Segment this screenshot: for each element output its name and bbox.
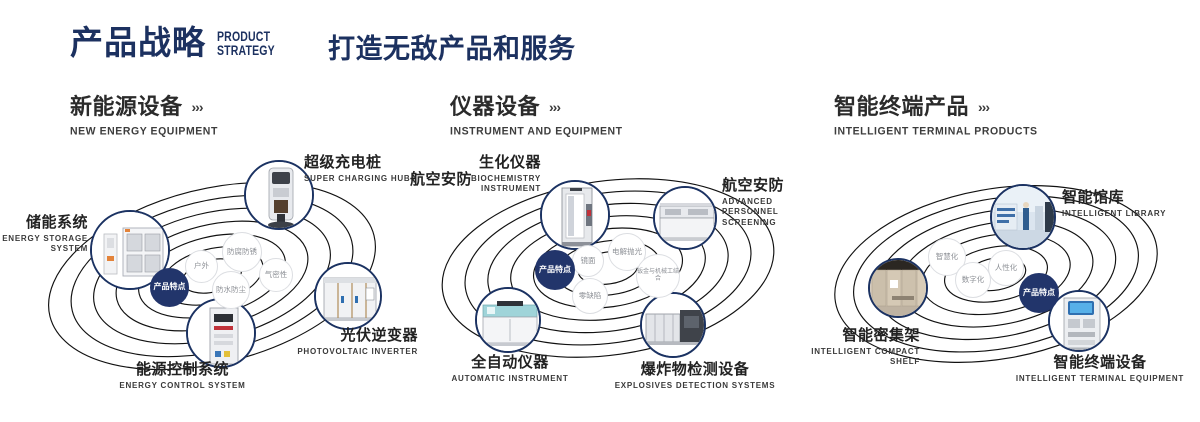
label-energy-control-system: 能源控制系统 ENERGY CONTROL SYSTEM — [85, 362, 280, 391]
node-label-en: ENERGY STORAGE SYSTEM — [0, 234, 88, 255]
energy-control-cabinet-photo — [188, 300, 254, 366]
page-title: 产品战略 PRODUCT STRATEGY — [70, 26, 291, 59]
diagram-instrument: 航空安防 生化仪器 BIOCHEMISTRY INSTRUMENT — [400, 150, 820, 400]
node-personnel-screening[interactable] — [653, 186, 717, 250]
section-heading-en: INTELLIGENT TERMINAL PRODUCTS — [834, 125, 1038, 138]
node-label-cn: 全自动仪器 — [415, 355, 605, 372]
node-automatic-instrument[interactable] — [475, 287, 541, 353]
chevron-right-icon: ››› — [192, 100, 203, 114]
label-biochemistry-instrument: 生化仪器 BIOCHEMISTRY INSTRUMENT — [423, 155, 541, 195]
page-title-en-line1: PRODUCT — [217, 30, 275, 44]
personnel-screening-unit-photo — [655, 188, 715, 248]
node-label-en: BIOCHEMISTRY INSTRUMENT — [423, 174, 541, 195]
node-label-cn: 光伏逆变器 — [248, 328, 418, 345]
node-label-en: PHOTOVOLTAIC INVERTER — [248, 347, 418, 357]
section-heading-cn: 智能终端产品 — [834, 96, 969, 118]
diagram-intelligent-terminal: 智能馆库 INTELLIGENT LIBRARY 智能密集架 — [800, 150, 1200, 400]
chevron-right-icon: ››› — [978, 100, 989, 114]
label-automatic-instrument: 全自动仪器 AUTOMATIC INSTRUMENT — [415, 355, 605, 384]
page-title-en: PRODUCT STRATEGY — [217, 30, 275, 58]
section-heading-new-energy: 新能源设备 ››› NEW ENERGY EQUIPMENT — [70, 96, 218, 137]
node-photovoltaic-inverter[interactable] — [314, 262, 382, 330]
section-heading-instrument: 仪器设备 ››› INSTRUMENT AND EQUIPMENT — [450, 96, 623, 137]
feature-bubble-zero-defect: 零缺陷 — [572, 278, 608, 314]
label-compact-shelf: 智能密集架 INTELLIGENT COMPACT SHELF — [780, 328, 920, 368]
label-intelligent-library: 智能馆库 INTELLIGENT LIBRARY — [1062, 190, 1166, 219]
section-heading-en: NEW ENERGY EQUIPMENT — [70, 125, 218, 138]
node-explosives-detection[interactable] — [640, 292, 706, 358]
diagram-new-energy: 储能系统 ENERGY STORAGE SYSTEM 超级充电桩 SUPER C… — [0, 150, 420, 400]
node-label-cn: 智能馆库 — [1062, 190, 1166, 207]
node-compact-shelf[interactable] — [868, 258, 928, 318]
chevron-right-icon: ››› — [549, 100, 560, 114]
product-strategy-infographic: 产品战略 PRODUCT STRATEGY 打造无敌产品和服务 新能源设备 ››… — [0, 0, 1200, 422]
node-label-cn: 爆炸物检测设备 — [600, 362, 790, 379]
explosives-detection-system-photo — [642, 294, 704, 356]
page-title-en-line2: STRATEGY — [217, 44, 275, 58]
section-heading-cn: 新能源设备 — [70, 96, 183, 118]
page-title-cn: 产品战略 — [70, 26, 206, 59]
node-label-cn: 生化仪器 — [423, 155, 541, 172]
section-heading-intelligent-terminal: 智能终端产品 ››› INTELLIGENT TERMINAL PRODUCTS — [834, 96, 1038, 137]
center-bubble-product-features: 产品特点 — [1019, 273, 1059, 313]
node-label-en: EXPLOSIVES DETECTION SYSTEMS — [600, 381, 790, 391]
node-label-en: ENERGY CONTROL SYSTEM — [85, 381, 280, 391]
node-energy-control-system[interactable] — [186, 298, 256, 368]
node-biochemistry-instrument[interactable] — [540, 180, 610, 250]
node-label-en: INTELLIGENT COMPACT SHELF — [780, 347, 920, 368]
node-label-en: INTELLIGENT TERMINAL EQUIPMENT — [1005, 374, 1195, 384]
node-label-en: AUTOMATIC INSTRUMENT — [415, 374, 605, 384]
node-label-cn: 能源控制系统 — [85, 362, 280, 379]
label-photovoltaic-inverter: 光伏逆变器 PHOTOVOLTAIC INVERTER — [248, 328, 418, 357]
label-super-charging-hub: 超级充电桩 SUPER CHARGING HUB — [304, 155, 410, 184]
node-label-cn: 储能系统 — [0, 215, 88, 232]
feature-bubble-outdoor: 户外 — [185, 250, 218, 283]
label-energy-storage: 储能系统 ENERGY STORAGE SYSTEM — [0, 215, 88, 255]
feature-bubble-mirror: 镜面 — [572, 245, 604, 277]
super-charging-hub-photo — [246, 162, 312, 228]
node-label-en: SUPER CHARGING HUB — [304, 174, 410, 184]
node-label-cn: 智能密集架 — [780, 328, 920, 345]
headline: 打造无敌产品和服务 — [328, 36, 576, 63]
label-explosives-detection: 爆炸物检测设备 EXPLOSIVES DETECTION SYSTEMS — [600, 362, 790, 391]
automatic-instrument-photo — [477, 289, 539, 351]
photovoltaic-inverter-photo — [316, 264, 380, 328]
node-label-cn: 超级充电桩 — [304, 155, 410, 172]
node-label-en: INTELLIGENT LIBRARY — [1062, 209, 1166, 219]
feature-bubble-digitalization: 数字化 — [955, 262, 991, 298]
node-label-cn: 智能终端设备 — [1005, 355, 1195, 372]
node-intelligent-library[interactable] — [990, 184, 1056, 250]
feature-bubble-anticorrosion: 防腐防锈 — [222, 232, 262, 272]
feature-bubble-airtight: 气密性 — [259, 258, 293, 292]
label-intelligent-terminal-equipment: 智能终端设备 INTELLIGENT TERMINAL EQUIPMENT — [1005, 355, 1195, 384]
section-heading-cn: 仪器设备 — [450, 96, 540, 118]
center-bubble-product-features: 产品特点 — [150, 268, 189, 307]
compact-shelving-photo — [870, 260, 926, 316]
intelligent-library-room-photo — [992, 186, 1054, 248]
feature-bubble-waterproof: 防水防尘 — [212, 271, 250, 309]
self-service-kiosk-photo — [1050, 292, 1108, 350]
feature-bubble-humanization: 人性化 — [988, 250, 1024, 286]
section-heading-en: INSTRUMENT AND EQUIPMENT — [450, 125, 623, 138]
feature-bubble-sheetmetal-machining: 钣金与机械工结合 — [636, 254, 680, 298]
feature-bubble-text: 钣金与机械工结合 — [637, 269, 679, 283]
biochemistry-instrument-photo — [542, 182, 608, 248]
center-bubble-product-features: 产品特点 — [535, 250, 575, 290]
